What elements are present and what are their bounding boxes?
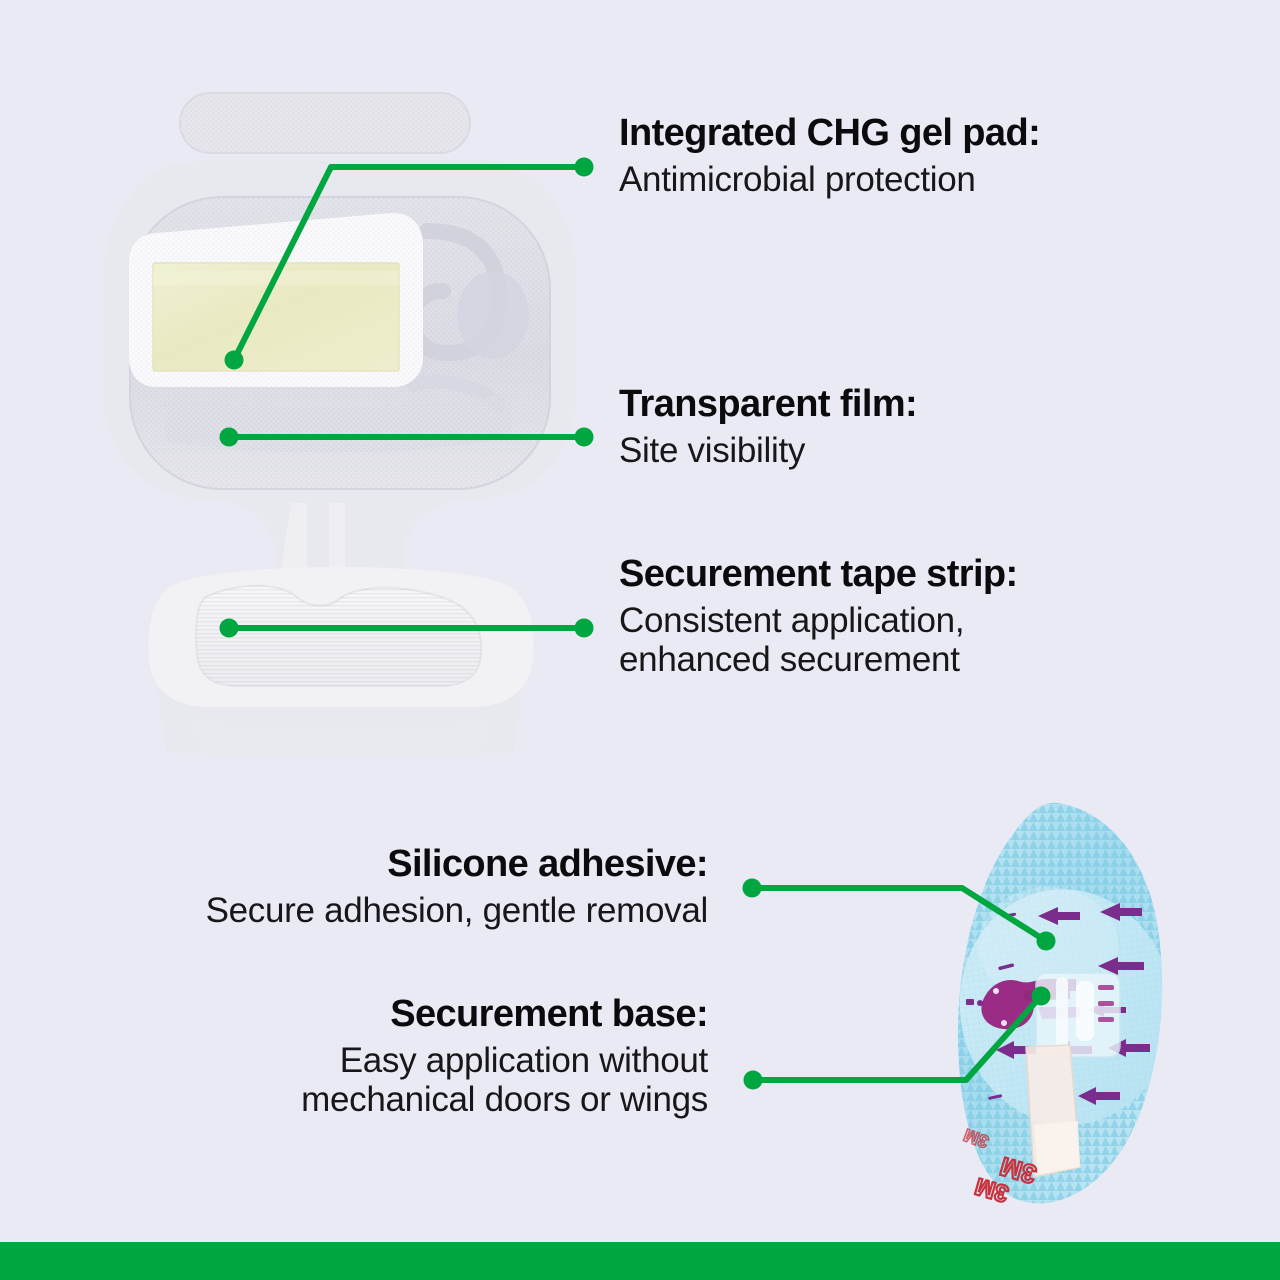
callout-silicone-adhesive: Silicone adhesive: Secure adhesion, gent… <box>206 845 708 930</box>
callout-title: Transparent film: <box>619 385 917 423</box>
callout-title: Securement base: <box>301 995 708 1033</box>
callout-description: Easy application without mechanical door… <box>301 1041 708 1119</box>
top-tape-strip-piece <box>180 93 470 153</box>
securement-base-illustration: 3M 3M 3M <box>930 795 1190 1220</box>
callout-securement-tape-strip: Securement tape strip: Consistent applic… <box>619 555 1018 679</box>
callout-title: Securement tape strip: <box>619 555 1018 593</box>
callout-description: Consistent application, enhanced securem… <box>619 601 1018 679</box>
callout-description: Secure adhesion, gentle removal <box>206 891 708 930</box>
transparent-clip <box>1036 973 1120 1057</box>
callout-title: Integrated CHG gel pad: <box>619 114 1040 152</box>
callout-title: Silicone adhesive: <box>206 845 708 883</box>
callout-description: Antimicrobial protection <box>619 160 1040 199</box>
infographic-canvas: 3M 3M 3M Integrated CHG gel pad: Antimic… <box>0 0 1280 1280</box>
chg-gel-pad <box>153 263 399 371</box>
liner-pull-tab <box>1026 1045 1080 1177</box>
bottom-accent-bar <box>0 1242 1280 1280</box>
callout-transparent-film: Transparent film: Site visibility <box>619 385 917 470</box>
chg-dressing-illustration <box>95 85 585 765</box>
callout-securement-base: Securement base: Easy application withou… <box>301 995 708 1119</box>
product-image-securement-base: 3M 3M 3M <box>930 795 1190 1220</box>
securement-tape-strip <box>149 567 534 707</box>
product-image-chg-dressing <box>95 85 585 765</box>
callout-integrated-chg-gel-pad: Integrated CHG gel pad: Antimicrobial pr… <box>619 114 1040 199</box>
callout-description: Site visibility <box>619 431 917 470</box>
connector-dot-start <box>743 879 762 898</box>
connector-dot-start <box>744 1071 763 1090</box>
